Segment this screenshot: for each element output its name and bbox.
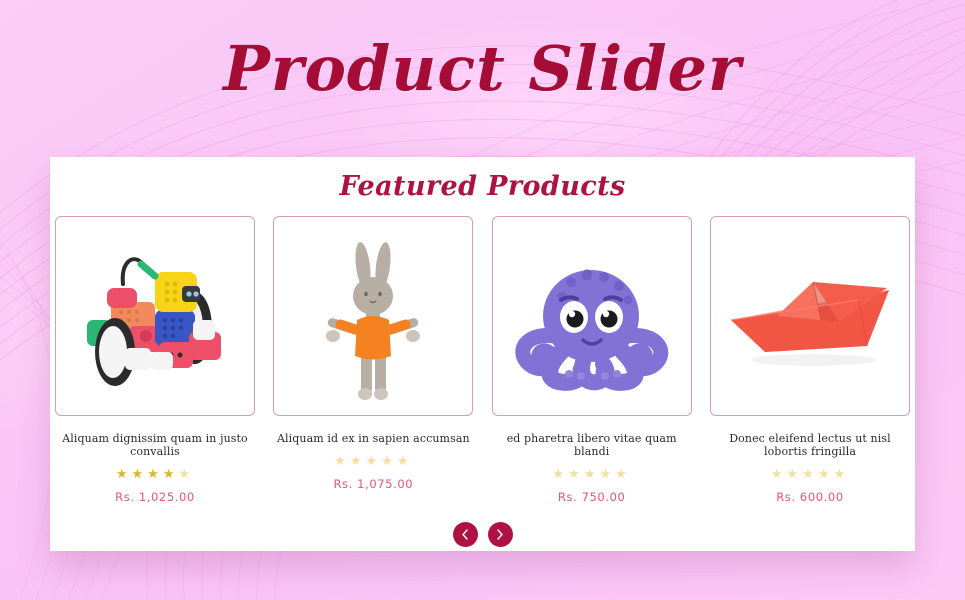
section-title: Featured Products xyxy=(50,171,915,202)
star-icon: ★ xyxy=(802,466,818,481)
chevron-left-icon xyxy=(461,529,469,540)
star-icon: ★ xyxy=(833,466,849,481)
star-icon: ★ xyxy=(397,453,413,468)
star-icon: ★ xyxy=(584,466,600,481)
product-price: Rs. 750.00 xyxy=(558,490,626,504)
product-card[interactable]: Aliquam id ex in sapien accumsan ★★★★★ R… xyxy=(273,216,473,504)
star-icon: ★ xyxy=(615,466,631,481)
slider-navigation xyxy=(50,522,915,547)
star-icon: ★ xyxy=(599,466,615,481)
rating-stars: ★★★★★ xyxy=(334,454,412,467)
product-card[interactable]: ed pharetra libero vitae quam blandi ★★★… xyxy=(492,216,692,504)
star-icon: ★ xyxy=(350,453,366,468)
rating-stars: ★★★★★ xyxy=(771,467,849,480)
product-image[interactable] xyxy=(273,216,473,416)
product-card[interactable]: Donec eleifend lectus ut nisl lobortis f… xyxy=(710,216,910,504)
product-price: Rs. 600.00 xyxy=(776,490,844,504)
star-icon: ★ xyxy=(381,453,397,468)
product-name: Aliquam id ex in sapien accumsan xyxy=(275,432,472,445)
star-icon: ★ xyxy=(818,466,834,481)
product-name: Donec eleifend lectus ut nisl lobortis f… xyxy=(710,432,910,458)
product-card[interactable]: Aliquam dignissim quam in justo convalli… xyxy=(55,216,255,504)
product-price: Rs. 1,025.00 xyxy=(115,490,195,504)
star-icon: ★ xyxy=(116,466,132,481)
slider-prev-button[interactable] xyxy=(453,522,478,547)
star-icon: ★ xyxy=(132,466,148,481)
rating-stars: ★★★★★ xyxy=(116,467,194,480)
star-icon: ★ xyxy=(787,466,803,481)
purple-clay-octopus-icon xyxy=(499,224,684,409)
star-icon: ★ xyxy=(178,466,194,481)
star-icon: ★ xyxy=(147,466,163,481)
product-image[interactable] xyxy=(55,216,255,416)
product-list: Aliquam dignissim quam in justo convalli… xyxy=(50,208,915,504)
product-image[interactable] xyxy=(710,216,910,416)
star-icon: ★ xyxy=(334,453,350,468)
knitted-bunny-plush-icon xyxy=(281,224,466,409)
star-icon: ★ xyxy=(163,466,179,481)
red-origami-paper-boat-icon xyxy=(717,224,902,409)
rating-stars: ★★★★★ xyxy=(553,467,631,480)
star-icon: ★ xyxy=(568,466,584,481)
product-slider-panel: Featured Products xyxy=(50,157,915,551)
star-icon: ★ xyxy=(366,453,382,468)
star-icon: ★ xyxy=(553,466,569,481)
modular-robot-toy-icon xyxy=(63,224,248,409)
slider-next-button[interactable] xyxy=(488,522,513,547)
product-name: ed pharetra libero vitae quam blandi xyxy=(492,432,692,458)
product-price: Rs. 1,075.00 xyxy=(333,477,413,491)
page-title: Product Slider xyxy=(0,32,965,105)
chevron-right-icon xyxy=(496,529,504,540)
product-image[interactable] xyxy=(492,216,692,416)
product-name: Aliquam dignissim quam in justo convalli… xyxy=(55,432,255,458)
star-icon: ★ xyxy=(771,466,787,481)
